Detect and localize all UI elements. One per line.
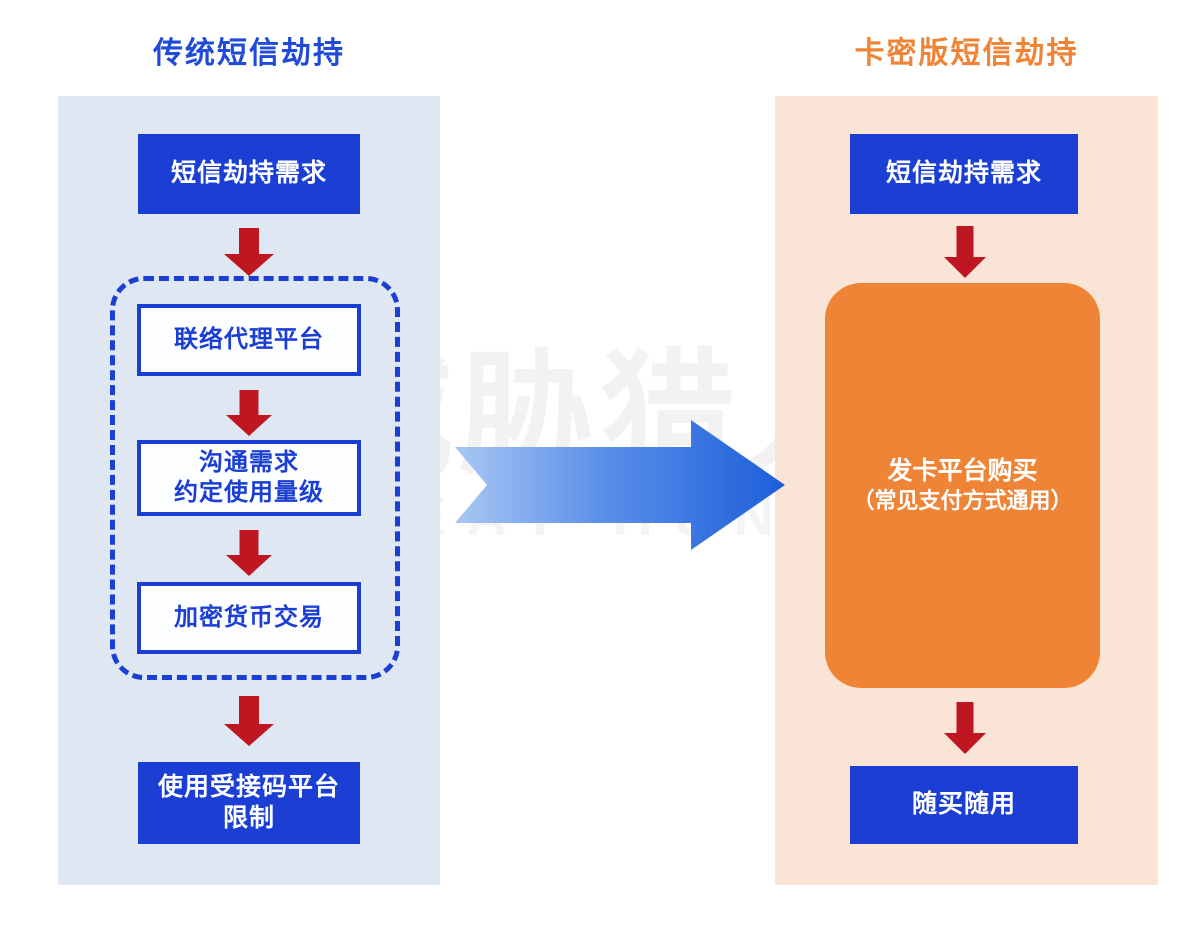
left-step-negotiate-demand-line2: 约定使用量级 xyxy=(174,478,324,508)
left-arrow-3-icon xyxy=(226,530,272,576)
left-step-negotiate-demand-line1: 沟通需求 xyxy=(199,448,299,478)
transition-right-arrow-icon: right-arrow xyxy=(455,420,785,550)
right-step-card-platform-purchase-line2: （常见支付方式通用） xyxy=(852,487,1072,515)
left-step-contact-agent-platform: 联络代理平台 xyxy=(137,304,361,376)
left-step-sms-hijack-demand: 短信劫持需求 xyxy=(138,134,360,214)
left-step-negotiate-demand: 沟通需求 约定使用量级 xyxy=(137,440,361,516)
left-arrow-4-icon xyxy=(224,696,274,746)
right-arrow-1-icon xyxy=(944,226,986,278)
left-step-receive-code-limit-line1: 使用受接码平台 xyxy=(158,772,340,803)
left-step-crypto-transaction: 加密货币交易 xyxy=(137,582,361,654)
left-panel-title: 传统短信劫持 xyxy=(58,28,440,72)
left-step-receive-code-limit: 使用受接码平台 限制 xyxy=(138,762,360,844)
right-arrow-2-icon xyxy=(944,702,986,754)
right-step-card-platform-purchase-line1: 发卡平台购买 xyxy=(887,456,1037,487)
right-step-buy-and-use: 随买随用 xyxy=(850,766,1078,844)
right-panel-title: 卡密版短信劫持 xyxy=(775,28,1158,72)
right-step-sms-hijack-demand: 短信劫持需求 xyxy=(850,134,1078,214)
left-arrow-2-icon xyxy=(226,390,272,436)
right-step-card-platform-purchase: 发卡平台购买 （常见支付方式通用） xyxy=(825,283,1100,688)
left-arrow-1-icon xyxy=(224,228,274,276)
left-step-receive-code-limit-line2: 限制 xyxy=(223,803,275,834)
